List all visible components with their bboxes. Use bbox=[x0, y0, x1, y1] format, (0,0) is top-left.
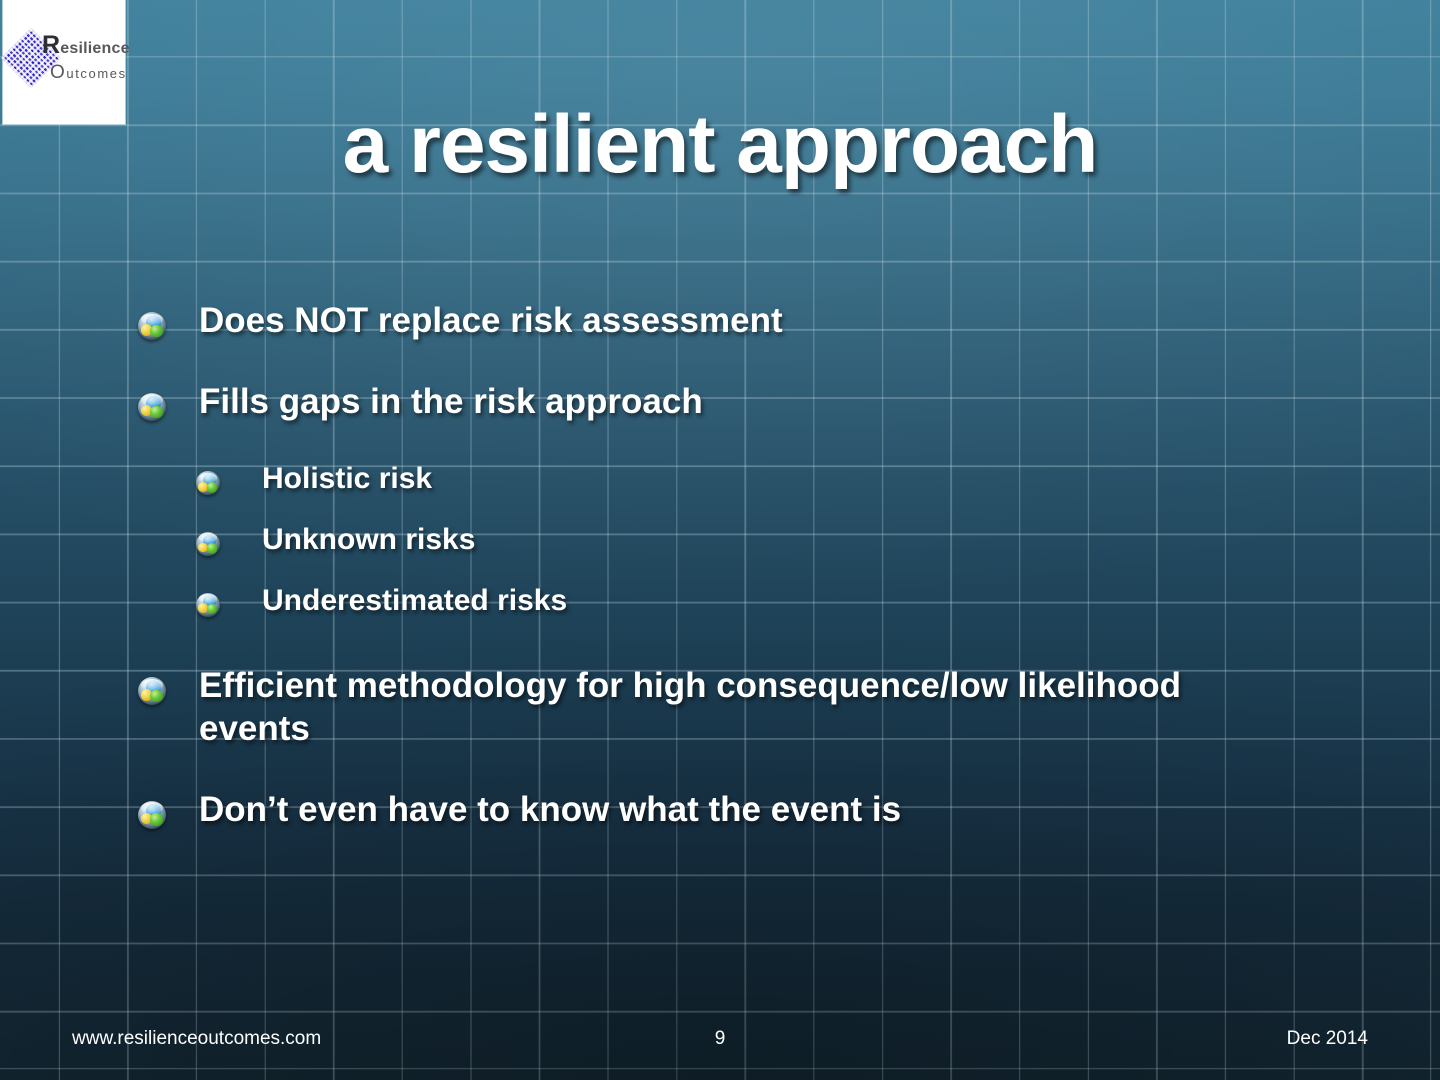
sub-bullet-text: Unknown risks bbox=[262, 522, 475, 559]
sphere-bullet-icon bbox=[138, 393, 166, 421]
sphere-bullet-icon bbox=[196, 471, 220, 495]
bullet-text: Fills gaps in the risk approach bbox=[199, 381, 703, 424]
sub-bullet-text: Holistic risk bbox=[262, 461, 432, 498]
sphere-bullet-icon bbox=[138, 801, 166, 829]
bullet-item: Efficient methodology for high consequen… bbox=[0, 665, 1440, 750]
logo-word-outcomes: Outcomes bbox=[50, 63, 122, 82]
slide-footer: www.resilienceoutcomes.com 9 Dec 2014 bbox=[0, 1028, 1440, 1054]
sub-bullet-item: Underestimated risks bbox=[0, 583, 1440, 620]
sphere-bullet-icon bbox=[138, 312, 166, 340]
logo-rest-resilience: esilience bbox=[60, 40, 129, 57]
slide: Resilience Outcomes a resilient approach… bbox=[0, 0, 1440, 1080]
slide-number: 9 bbox=[0, 1028, 1440, 1050]
logo-rest-outcomes: utcomes bbox=[66, 66, 126, 81]
sphere-bullet-icon bbox=[138, 677, 166, 705]
bullet-text: Efficient methodology for high consequen… bbox=[199, 665, 1209, 750]
bullet-item: Don’t even have to know what the event i… bbox=[0, 789, 1440, 832]
bullet-item: Fills gaps in the risk approach bbox=[0, 381, 1440, 424]
sub-bullet-item: Unknown risks bbox=[0, 522, 1440, 559]
bullet-text: Does NOT replace risk assessment bbox=[199, 300, 783, 343]
bullet-list: Does NOT replace risk assessment Fills g… bbox=[0, 300, 1440, 869]
logo-word-resilience: Resilience bbox=[42, 33, 122, 58]
footer-date: Dec 2014 bbox=[1287, 1028, 1368, 1050]
sphere-bullet-icon bbox=[196, 593, 220, 617]
slide-title: a resilient approach bbox=[0, 104, 1440, 186]
bullet-item: Does NOT replace risk assessment bbox=[0, 300, 1440, 343]
logo-cap-r: R bbox=[42, 31, 60, 59]
logo-cap-o: O bbox=[50, 62, 66, 83]
sphere-bullet-icon bbox=[196, 532, 220, 556]
sub-bullet-text: Underestimated risks bbox=[262, 583, 567, 620]
bullet-text: Don’t even have to know what the event i… bbox=[199, 789, 901, 832]
sub-bullet-item: Holistic risk bbox=[0, 461, 1440, 498]
